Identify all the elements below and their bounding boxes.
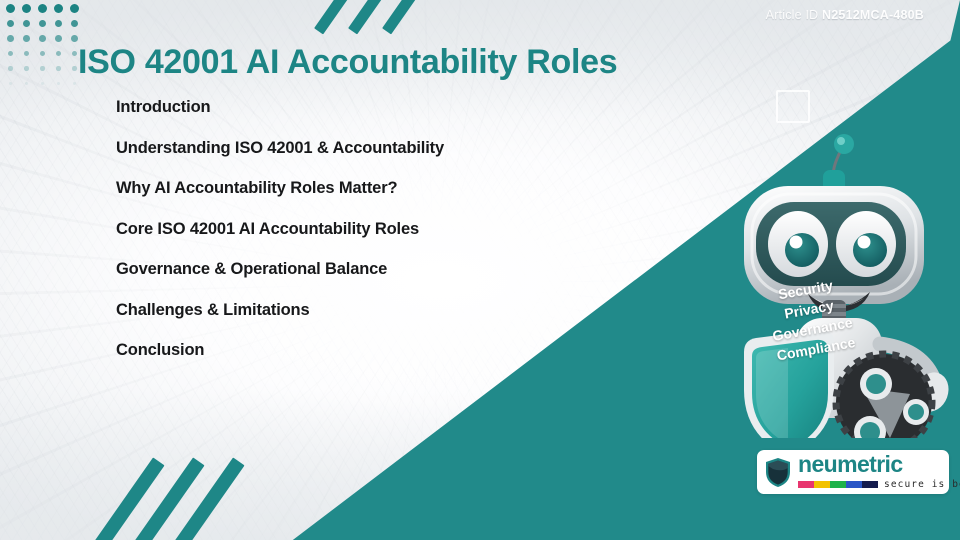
logo-color-bar xyxy=(798,481,814,488)
robot-illustration xyxy=(722,108,960,438)
neumetric-logo[interactable]: neumetric secure is better xyxy=(757,450,949,494)
dot xyxy=(6,4,15,13)
dot xyxy=(9,82,12,85)
logo-wordmark: neumetric xyxy=(798,454,960,476)
logo-color-bar xyxy=(846,481,862,488)
logo-color-bar xyxy=(862,481,878,488)
stripe xyxy=(382,0,421,34)
stripe xyxy=(348,0,387,34)
robot-mascot: Security Privacy Governance Compliance xyxy=(722,108,960,438)
dot xyxy=(71,35,78,42)
dot xyxy=(25,82,28,85)
agenda-item[interactable]: Understanding ISO 42001 & Accountability xyxy=(116,140,636,157)
logo-color-bar xyxy=(830,481,846,488)
dot xyxy=(40,66,44,70)
dot xyxy=(39,35,46,42)
dot xyxy=(40,51,46,57)
diagonal-stripes-bottom xyxy=(120,462,260,540)
agenda-item[interactable]: Challenges & Limitations xyxy=(116,302,636,319)
dot xyxy=(7,20,15,28)
dot xyxy=(55,20,63,28)
dot xyxy=(39,20,47,28)
dot xyxy=(8,51,14,57)
dot xyxy=(38,4,47,13)
dot xyxy=(22,4,31,13)
dot xyxy=(8,66,12,70)
page-title: ISO 42001 AI Accountability Roles xyxy=(78,43,617,82)
dot xyxy=(24,66,28,70)
article-id-value: N2512MCA-480B xyxy=(822,8,924,22)
dot xyxy=(56,51,62,57)
dot xyxy=(23,35,30,42)
dot xyxy=(57,82,60,85)
dot xyxy=(56,66,60,70)
dot xyxy=(73,82,76,85)
shield-icon xyxy=(765,457,791,488)
dot xyxy=(70,4,79,13)
dot xyxy=(55,35,62,42)
agenda-item[interactable]: Why AI Accountability Roles Matter? xyxy=(116,180,636,197)
agenda-list: IntroductionUnderstanding ISO 42001 & Ac… xyxy=(116,99,636,383)
logo-tagline: secure is better xyxy=(884,479,960,490)
dot xyxy=(72,51,78,57)
dot xyxy=(72,66,76,70)
agenda-item[interactable]: Governance & Operational Balance xyxy=(116,261,636,278)
agenda-item[interactable]: Introduction xyxy=(116,99,636,116)
dot xyxy=(41,82,44,85)
slide-canvas: Article ID N2512MCA-480B ISO 42001 AI Ac… xyxy=(0,0,960,540)
dot xyxy=(54,4,63,13)
agenda-item[interactable]: Conclusion xyxy=(116,342,636,359)
logo-color-bars xyxy=(798,481,878,488)
dot xyxy=(24,51,30,57)
article-id: Article ID N2512MCA-480B xyxy=(766,8,924,22)
dot xyxy=(23,20,31,28)
diagonal-stripes-top xyxy=(324,0,444,36)
dot xyxy=(7,35,14,42)
agenda-item[interactable]: Core ISO 42001 AI Accountability Roles xyxy=(116,221,636,238)
article-id-label: Article ID xyxy=(766,8,819,22)
logo-color-bar xyxy=(814,481,830,488)
dot xyxy=(71,20,79,28)
